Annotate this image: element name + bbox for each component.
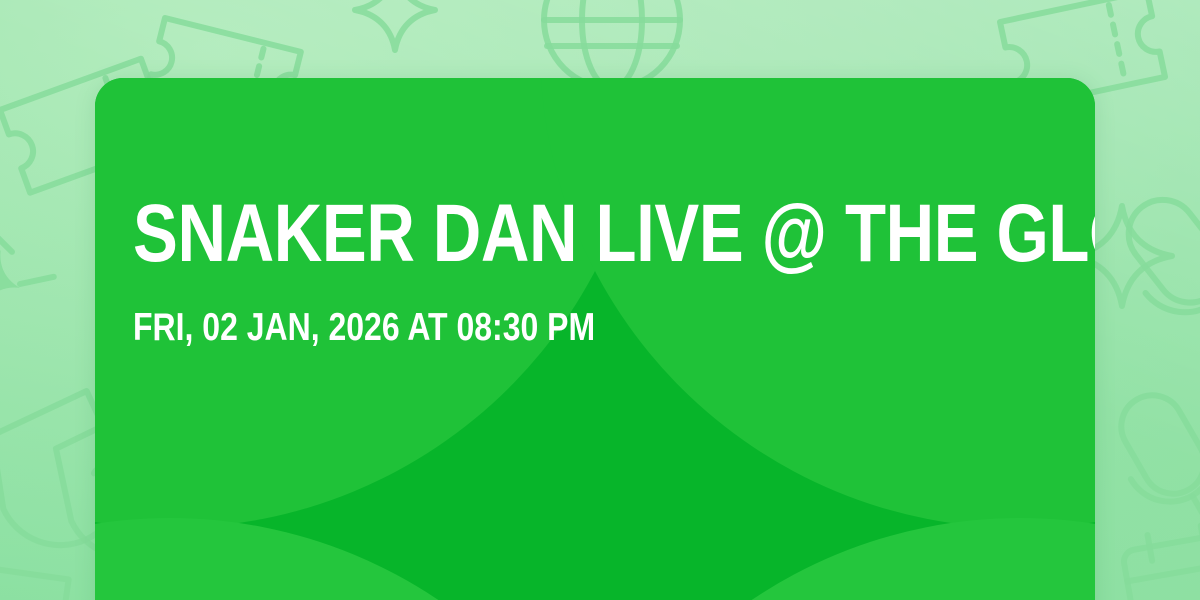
globe-icon <box>544 0 680 88</box>
microphone-icon <box>1098 377 1200 550</box>
event-card: SNAKER DAN LIVE @ THE GLOBE FRI, 02 JAN,… <box>95 78 1095 600</box>
event-share-banner: SNAKER DAN LIVE @ THE GLOBE FRI, 02 JAN,… <box>0 0 1200 600</box>
ticket-icon <box>0 560 69 600</box>
sparkle-icon <box>20 271 54 289</box>
card-text-block: SNAKER DAN LIVE @ THE GLOBE FRI, 02 JAN,… <box>133 194 1057 347</box>
calendar-icon <box>1120 521 1200 600</box>
event-datetime: FRI, 02 JAN, 2026 AT 08:30 PM <box>133 308 891 347</box>
microphone-icon <box>1102 176 1200 364</box>
sparkle-icon <box>355 0 435 50</box>
sparkle-icon <box>0 230 16 252</box>
event-title: SNAKER DAN LIVE @ THE GLOBE <box>133 194 891 274</box>
